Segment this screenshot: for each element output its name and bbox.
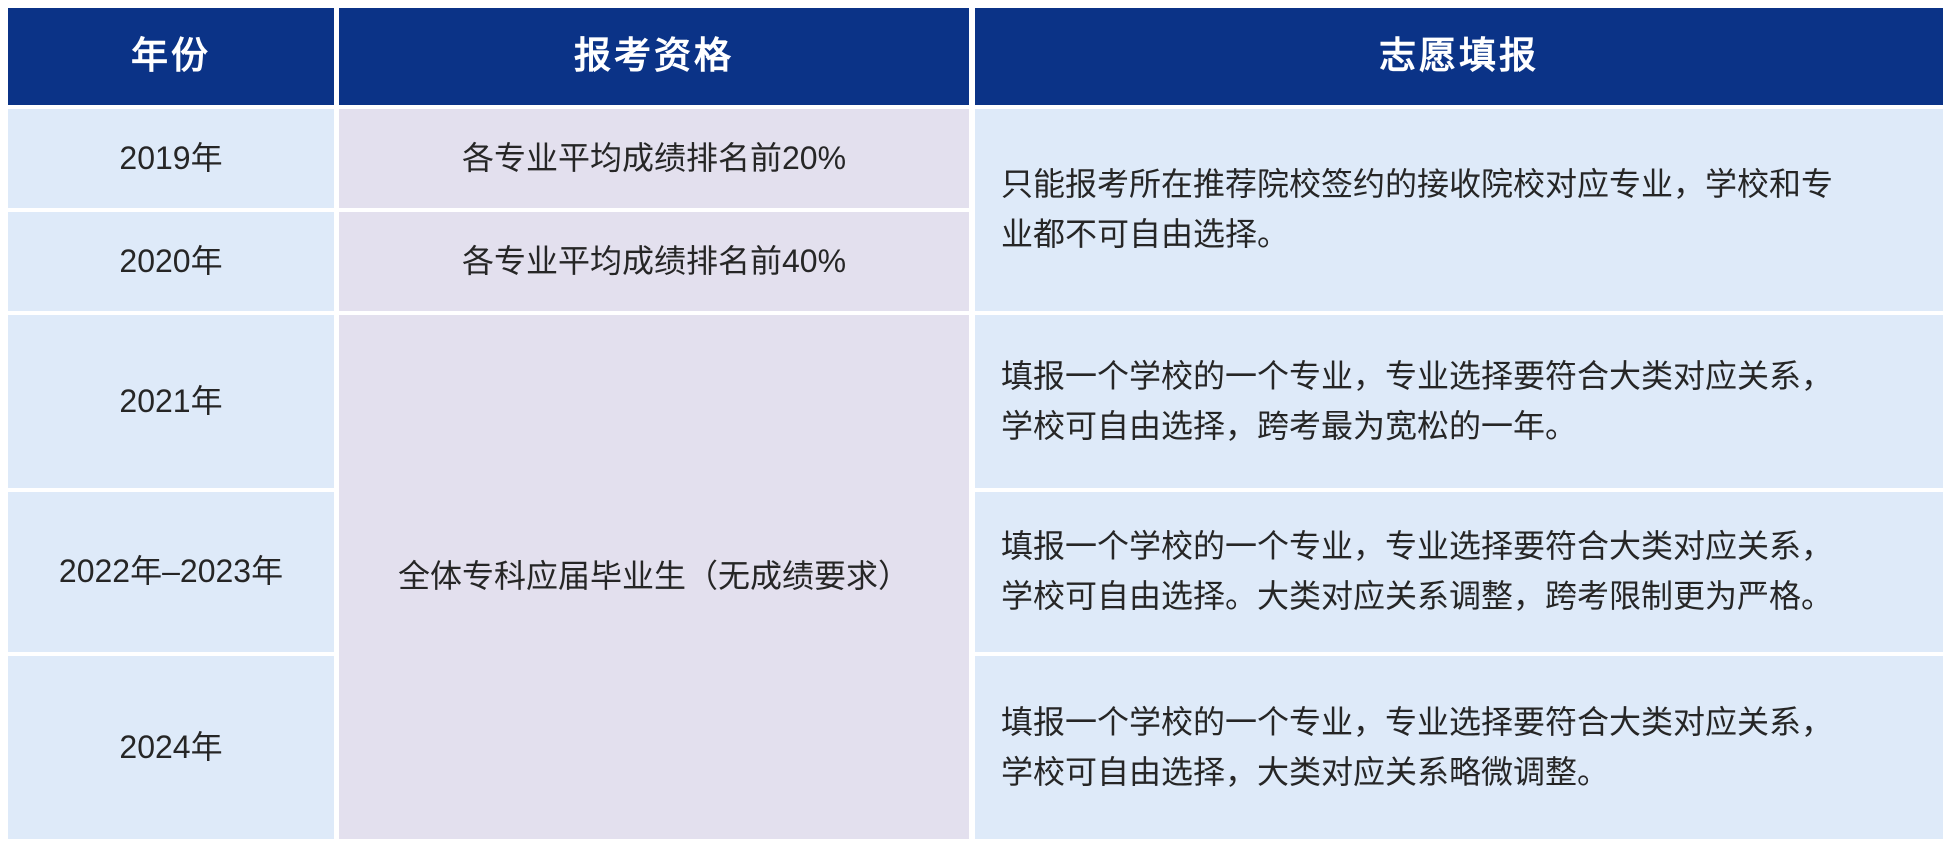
- eligibility-value: 各专业平均成绩排名前20%: [462, 134, 846, 184]
- header-label-year: 年份: [131, 34, 211, 78]
- year-value: 2020年: [119, 237, 222, 287]
- eligibility-cell-merged: 全体专科应届毕业生（无成绩要求）: [339, 315, 969, 839]
- table-row: 2019年: [8, 109, 334, 208]
- eligibility-value: 各专业平均成绩排名前40%: [462, 237, 846, 287]
- table-header-volunteer: 志愿填报: [975, 8, 1943, 105]
- year-value: 2022年–2023年: [59, 547, 283, 597]
- table-row: 2022年–2023年: [8, 492, 334, 652]
- volunteer-cell: 填报一个学校的一个专业，专业选择要符合大类对应关系， 学校可自由选择。大类对应关…: [975, 492, 1943, 652]
- table-header-year: 年份: [8, 8, 334, 105]
- volunteer-cell: 填报一个学校的一个专业，专业选择要符合大类对应关系， 学校可自由选择，大类对应关…: [975, 656, 1943, 839]
- header-label-volunteer: 志愿填报: [1379, 34, 1539, 78]
- volunteer-value: 只能报考所在推荐院校签约的接收院校对应专业，学校和专 业都不可自由选择。: [1001, 160, 1833, 259]
- volunteer-cell: 填报一个学校的一个专业，专业选择要符合大类对应关系， 学校可自由选择，跨考最为宽…: [975, 315, 1943, 488]
- eligibility-cell: 各专业平均成绩排名前20%: [339, 109, 969, 208]
- table-row: 2020年: [8, 212, 334, 311]
- eligibility-cell: 各专业平均成绩排名前40%: [339, 212, 969, 311]
- comparison-table: 年份 报考资格 志愿填报 2019年 2020年 2021年 2022年–202…: [8, 8, 1943, 839]
- volunteer-value: 填报一个学校的一个专业，专业选择要符合大类对应关系， 学校可自由选择。大类对应关…: [1001, 522, 1833, 621]
- volunteer-value: 填报一个学校的一个专业，专业选择要符合大类对应关系， 学校可自由选择，大类对应关…: [1001, 698, 1833, 797]
- year-value: 2024年: [119, 723, 222, 773]
- header-label-eligibility: 报考资格: [574, 34, 734, 78]
- table-row: 2024年: [8, 656, 334, 839]
- table-row: 2021年: [8, 315, 334, 488]
- year-value: 2019年: [119, 134, 222, 184]
- eligibility-value-merged: 全体专科应届毕业生（无成绩要求）: [398, 552, 910, 602]
- year-value: 2021年: [119, 377, 222, 427]
- volunteer-cell-merged: 只能报考所在推荐院校签约的接收院校对应专业，学校和专 业都不可自由选择。: [975, 109, 1943, 311]
- table-header-eligibility: 报考资格: [339, 8, 969, 105]
- volunteer-value: 填报一个学校的一个专业，专业选择要符合大类对应关系， 学校可自由选择，跨考最为宽…: [1001, 352, 1833, 451]
